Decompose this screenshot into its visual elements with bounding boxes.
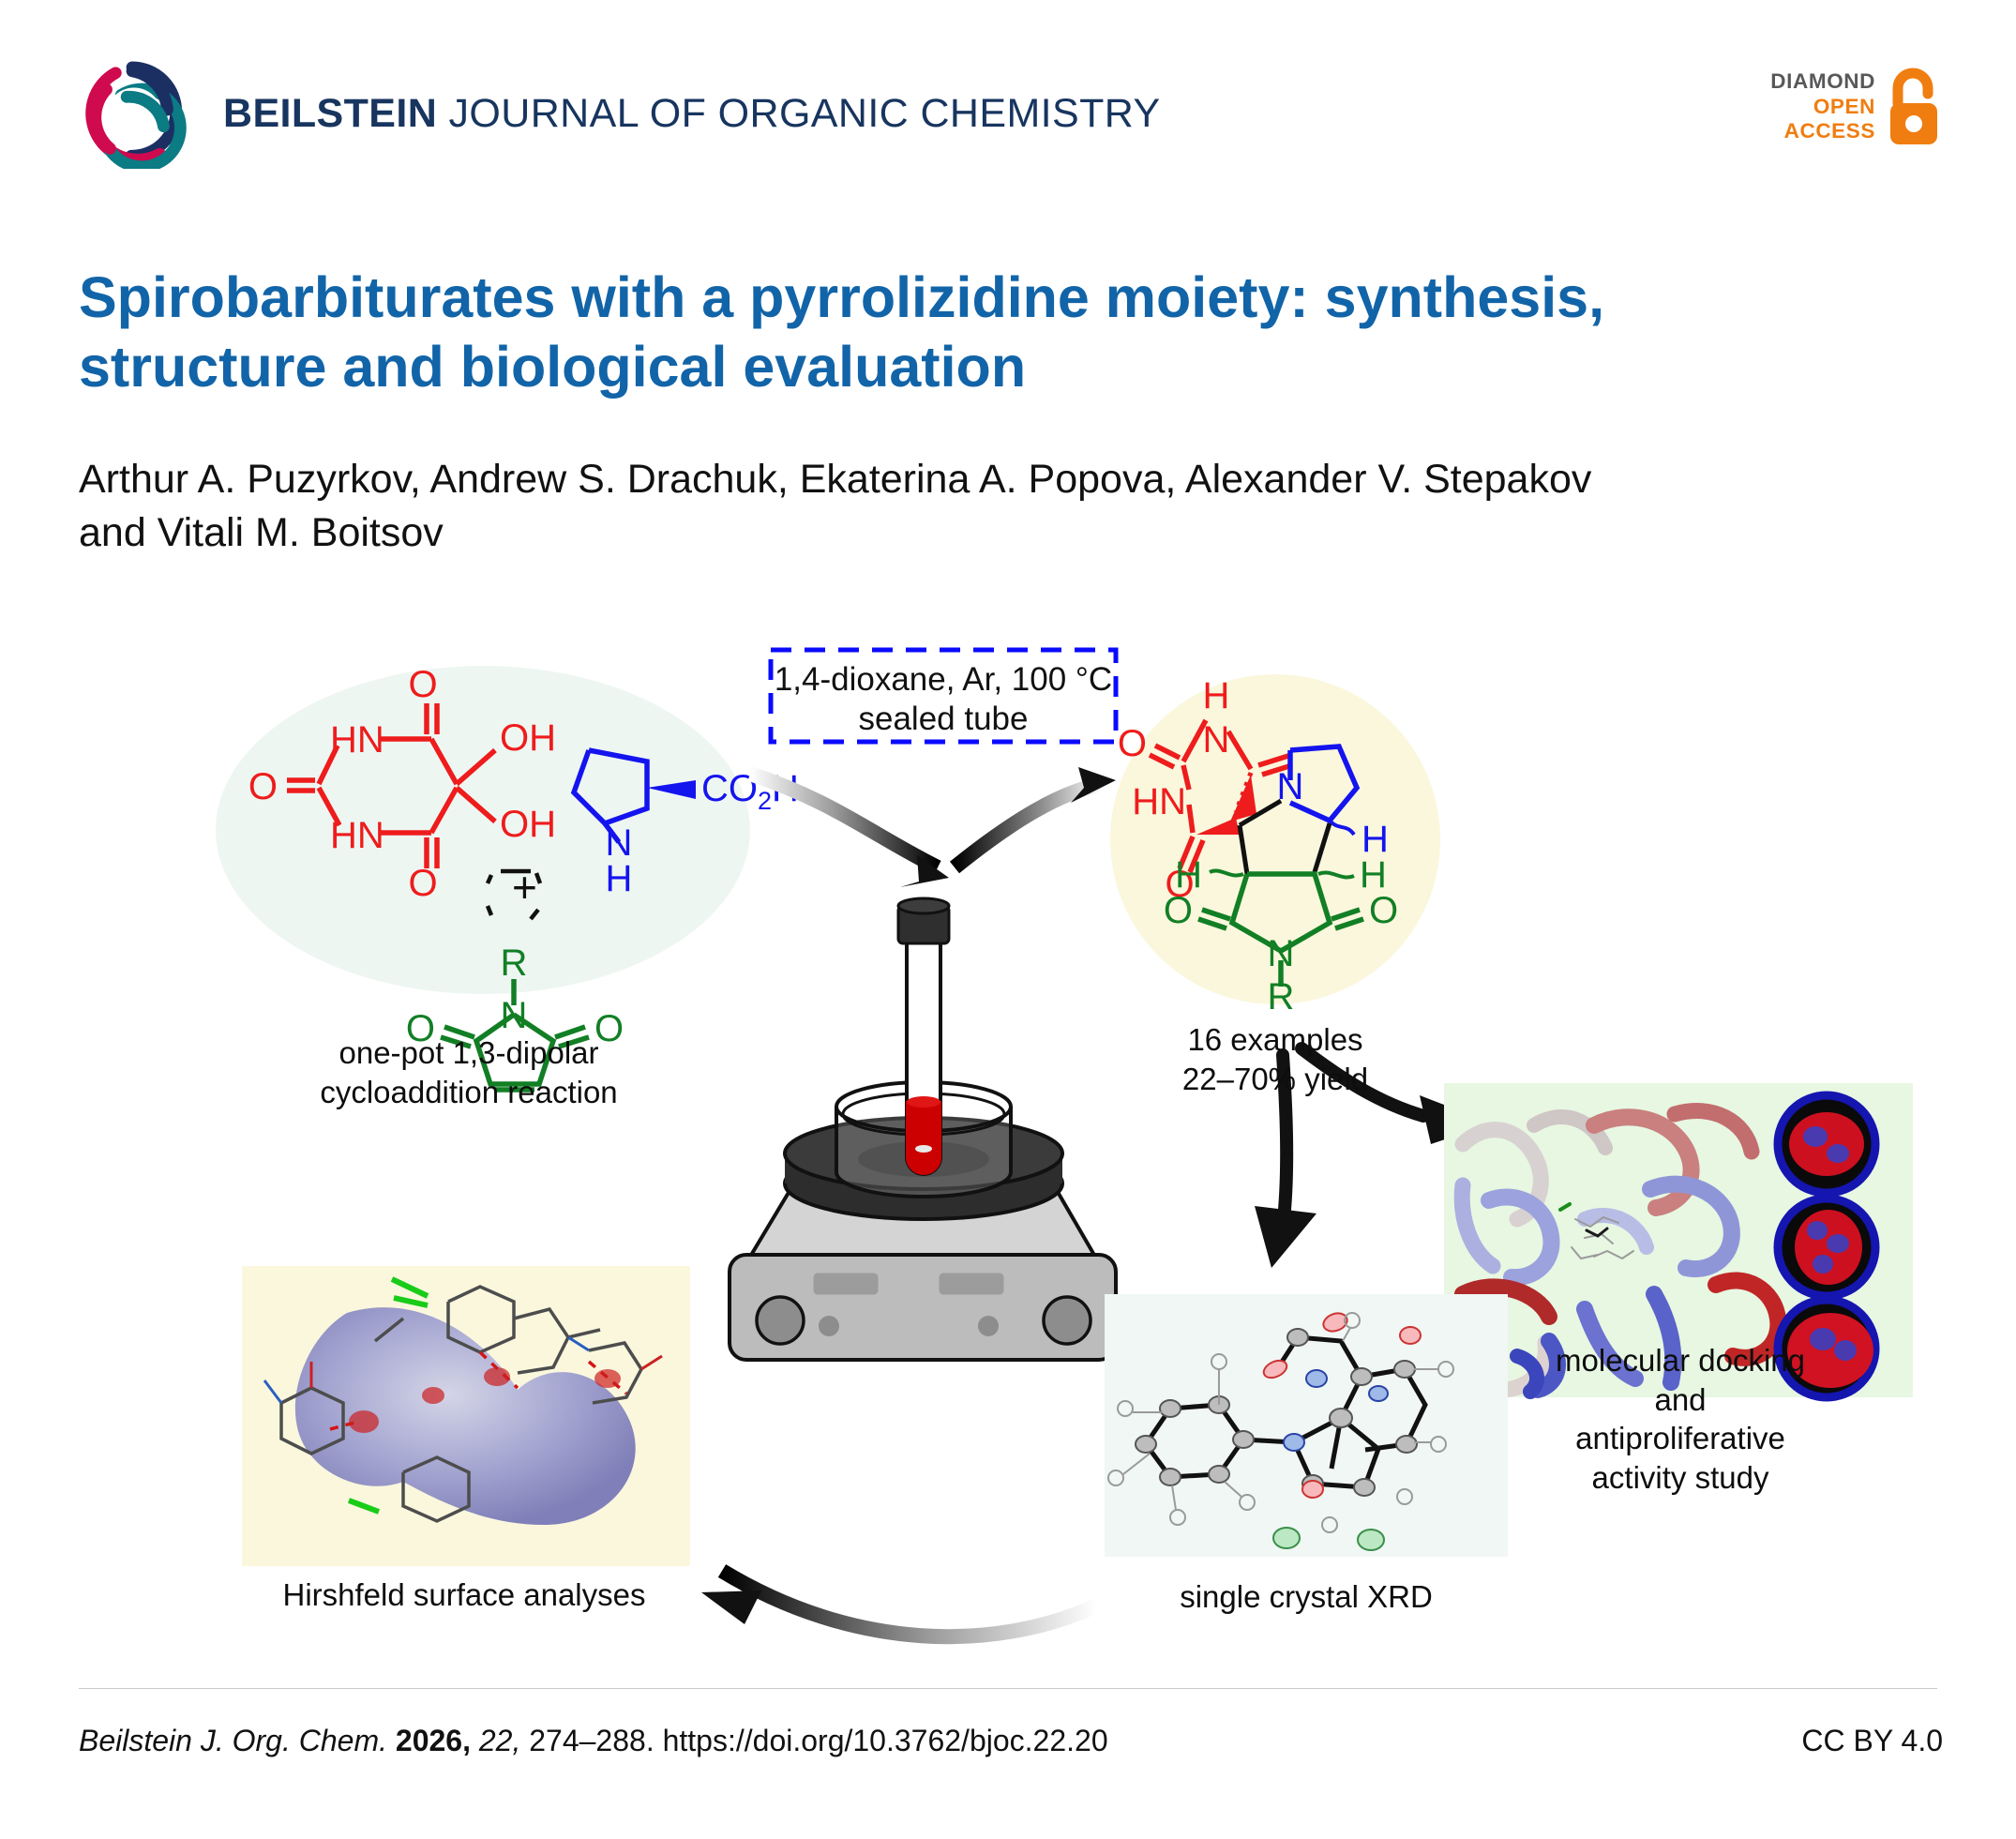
conditions-line-1: 1,4-dioxane, Ar, 100 °C <box>775 661 1112 698</box>
oa-open-label: OPEN <box>1770 95 1875 120</box>
caption-docking-line-1: molecular docking <box>1480 1341 1881 1380</box>
hotplate-led-left <box>819 1316 839 1336</box>
hirshfeld-panel <box>242 1266 690 1566</box>
caption-reaction-line-2: cycloaddition reaction <box>281 1073 656 1112</box>
journal-name-light: JOURNAL OF ORGANIC CHEMISTRY <box>437 91 1160 136</box>
label-O-prod-left: O <box>1118 723 1147 764</box>
masthead: BEILSTEIN JOURNAL OF ORGANIC CHEMISTRY <box>79 58 1161 169</box>
caption-docking-line-3: antiproliferative <box>1480 1419 1881 1458</box>
micrograph-1-cells <box>1789 1112 1864 1176</box>
graphical-abstract-page: BEILSTEIN JOURNAL OF ORGANIC CHEMISTRY D… <box>0 0 2016 1839</box>
arrow-to-reactor <box>750 774 938 867</box>
arrow-to-hirshfeld <box>722 1571 1097 1636</box>
author-list: Arthur A. Puzyrkov, Andrew S. Drachuk, E… <box>79 453 1917 560</box>
tube-liquid-meniscus <box>907 1096 940 1108</box>
authors-line-1: Arthur A. Puzyrkov, Andrew S. Drachuk, E… <box>79 453 1917 506</box>
reactants-ellipse-bg <box>216 666 750 994</box>
journal-title: BEILSTEIN JOURNAL OF ORGANIC CHEMISTRY <box>223 91 1161 137</box>
hotplate-knob-left <box>757 1297 804 1344</box>
label-O-left: O <box>248 766 278 807</box>
label-OH-top: OH <box>500 717 556 759</box>
hotplate-knob-right <box>1044 1297 1091 1344</box>
oa-access-label: ACCESS <box>1770 119 1875 144</box>
label-R-reactant: R <box>501 942 528 984</box>
open-padlock-icon <box>1885 66 1943 148</box>
abstract-svg: HN O OH O HN OH O N H CO2H + <box>0 600 2016 1688</box>
tube-liquid <box>907 1102 940 1174</box>
license-label: CC BY 4.0 <box>1801 1724 1943 1758</box>
caption-yield: 16 examples 22–70% yield <box>1139 1020 1411 1098</box>
label-H-proline: H <box>606 858 633 899</box>
oa-diamond-label: DIAMOND <box>1770 69 1875 95</box>
cite-year: 2026, <box>396 1724 471 1757</box>
hotplate-display-left <box>814 1274 878 1294</box>
label-HN-top: HN <box>330 719 384 761</box>
caption-reaction-line-1: one-pot 1,3-dipolar <box>281 1033 656 1073</box>
caption-yield-line-1: 16 examples <box>1139 1020 1411 1060</box>
footer-divider <box>79 1688 1937 1689</box>
tube-cap-top <box>898 898 949 913</box>
label-O-bottom: O <box>408 863 437 904</box>
open-access-text: DIAMOND OPEN ACCESS <box>1770 69 1875 144</box>
authors-line-2: and Vitali M. Boitsov <box>79 506 1917 560</box>
open-access-badge: DIAMOND OPEN ACCESS <box>1770 66 1943 148</box>
label-H-prod-top: H <box>1203 675 1230 716</box>
caption-xrd: single crystal XRD <box>1105 1577 1508 1617</box>
label-O-prod-sl: O <box>1164 890 1193 931</box>
page-title: Spirobarbiturates with a pyrrolizidine m… <box>79 263 1917 402</box>
caption-yield-line-2: 22–70% yield <box>1139 1060 1411 1099</box>
magnetic-stirrer-hotplate <box>730 898 1116 1360</box>
cite-volume: 22, <box>471 1724 520 1757</box>
caption-docking-line-2: and <box>1480 1380 1881 1420</box>
stir-bar <box>915 1145 932 1153</box>
hotplate-display-right <box>940 1274 1003 1294</box>
cite-journal: Beilstein J. Org. Chem. <box>79 1724 396 1757</box>
caption-docking-line-4: activity study <box>1480 1458 1881 1498</box>
citation-line: Beilstein J. Org. Chem. 2026, 22, 274–28… <box>79 1724 1108 1758</box>
label-N-maleimide: N <box>501 995 528 1036</box>
title-line-1: Spirobarbiturates with a pyrrolizidine m… <box>79 263 1917 332</box>
caption-reaction: one-pot 1,3-dipolar cycloaddition reacti… <box>281 1033 656 1111</box>
caption-hirshfeld: Hirshfeld surface analyses <box>234 1575 694 1615</box>
label-R-prod: R <box>1268 976 1295 1017</box>
arrow-to-hirshfeld-head <box>701 1590 761 1624</box>
label-O-prod-sr: O <box>1369 890 1398 931</box>
label-HN-bottom: HN <box>330 815 384 856</box>
conditions-line-2: sealed tube <box>859 701 1029 737</box>
beilstein-rings-logo <box>79 58 189 169</box>
micrograph-2-cells <box>1795 1210 1862 1285</box>
label-O-top: O <box>408 664 437 705</box>
xrd-panel <box>1105 1294 1508 1557</box>
hotplate-led-right <box>978 1316 999 1336</box>
caption-docking: molecular docking and antiproliferative … <box>1480 1341 1881 1497</box>
arrow-to-xrd-head <box>1255 1206 1316 1268</box>
cite-pages-doi: 274–288. https://doi.org/10.3762/bjoc.22… <box>520 1724 1107 1757</box>
label-HN-prod: HN <box>1132 781 1186 822</box>
label-N-prod-succ: N <box>1268 933 1295 974</box>
journal-name-bold: BEILSTEIN <box>223 91 437 136</box>
title-line-2: structure and biological evaluation <box>79 332 1917 401</box>
label-N-prod-top: N <box>1203 719 1230 761</box>
label-OH-bottom: OH <box>500 804 556 845</box>
graphical-abstract-figure: HN O OH O HN OH O N H CO2H + <box>0 600 2016 1683</box>
